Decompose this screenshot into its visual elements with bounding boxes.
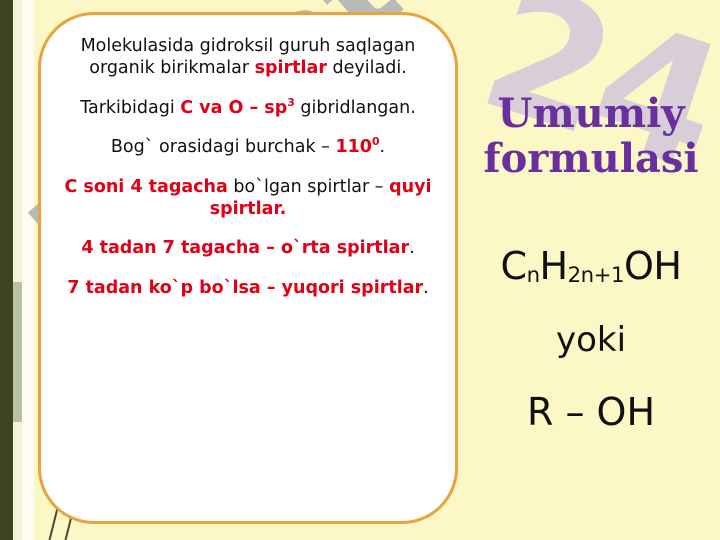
paragraph-higher-alcohols: 7 tadan ko`p bo`lsa – yuqori spirtlar. xyxy=(57,277,439,299)
run-text-highlight: C soni 4 tagacha xyxy=(64,177,227,197)
left-edge-light-stripe xyxy=(13,0,22,540)
formula-carbon-subscript: n xyxy=(527,263,540,288)
paragraph-hybridization: Tarkibidagi C va O – sp3 gibridlangan. xyxy=(57,97,439,119)
run-text: . xyxy=(380,137,386,157)
paragraph-definition: Molekulasida gidroksil guruh saqlagan or… xyxy=(57,35,439,80)
run-text: bo`lgan spirtlar – xyxy=(228,177,389,197)
formula-hydrogen: H xyxy=(540,244,568,288)
formula-carbon: C xyxy=(501,244,527,288)
paragraph-middle-alcohols: 4 tadan 7 tagacha – o`rta spirtlar. xyxy=(57,237,439,259)
left-edge-white-stripe xyxy=(22,0,34,540)
section-title: Umumiy formulasi xyxy=(462,92,720,182)
general-formula: CnH2n+1OH xyxy=(462,244,720,288)
run-text-highlight: C va O – sp xyxy=(180,98,287,118)
run-text-highlight: spirtlar xyxy=(255,58,327,78)
formula-hydroxyl: OH xyxy=(624,244,681,288)
formula-connector: yoki xyxy=(462,320,720,360)
slide-canvas: 24 Hujjat Molekulasida gidroksil guruh s… xyxy=(0,0,720,540)
content-panel: Molekulasida gidroksil guruh saqlagan or… xyxy=(38,12,458,524)
run-text: Tarkibidagi xyxy=(80,98,180,118)
run-text: . xyxy=(409,238,415,258)
run-text: . xyxy=(423,278,429,298)
superscript-sp3: 3 xyxy=(287,96,295,109)
run-text-highlight: 110 xyxy=(335,137,372,157)
right-column: Umumiy formulasi CnH2n+1OH yoki R – OH xyxy=(462,0,720,540)
paragraph-bond-angle: Bog` orasidagi burchak – 1100. xyxy=(57,136,439,158)
run-text: deyiladi. xyxy=(327,58,407,78)
left-edge-dark-stripe xyxy=(0,0,13,540)
run-text: gibridlangan. xyxy=(295,98,416,118)
section-title-line-2: formulasi xyxy=(462,137,720,182)
run-text-highlight: 7 tadan ko`p bo`lsa – yuqori spirtlar xyxy=(67,278,423,298)
alternative-formula: R – OH xyxy=(462,390,720,434)
paragraph-lower-alcohols: C soni 4 tagacha bo`lgan spirtlar – quyi… xyxy=(57,176,439,221)
run-text: Bog` orasidagi burchak – xyxy=(111,137,336,157)
run-text-highlight: 4 tadan 7 tagacha – o`rta spirtlar xyxy=(81,238,409,258)
left-edge-sage-accent xyxy=(13,282,22,422)
content-panel-body: Molekulasida gidroksil guruh saqlagan or… xyxy=(41,15,455,299)
formula-hydrogen-subscript: 2n+1 xyxy=(568,263,624,288)
superscript-degree: 0 xyxy=(372,135,380,148)
section-title-line-1: Umumiy xyxy=(462,92,720,137)
